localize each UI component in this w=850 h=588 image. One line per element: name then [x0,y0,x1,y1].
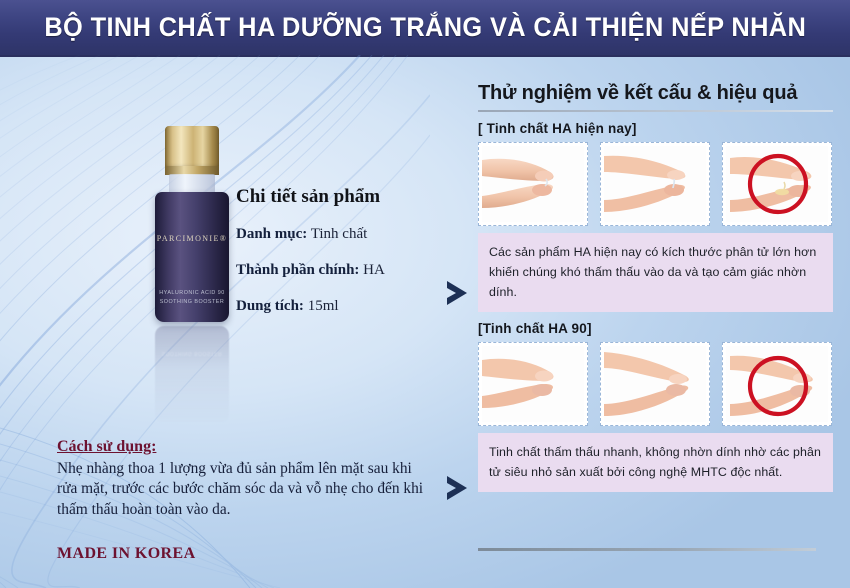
texture-test-panel: Thử nghiệm về kết cấu & hiệu quả [ Tinh … [478,82,833,492]
photo-row-ha90 [478,342,833,426]
bottle: PARCIMONIE® HYALURONIC ACID 90 SOOTHING … [146,126,238,322]
bottle-type-label: SOOTHING BOOSTER [155,299,229,305]
fingertips-illustration [604,146,706,222]
bottle-reflection: SOOTHING BOOSTER [155,326,229,422]
product-details-heading: Chi tiết sản phẩm [236,186,451,208]
detail-value-category: Tinh chất [311,226,368,242]
fingertips-illustration [482,346,584,422]
description-current-ha: Các sản phẩm HA hiện nay có kích thước p… [478,233,833,312]
usage-heading: Cách sử dụng: [57,438,432,456]
detail-label-ingredient: Thành phần chính: [236,262,359,278]
description-ha90: Tinh chất thấm thấu nhanh, không nhờn dí… [478,433,833,492]
detail-label-category: Danh mục: [236,226,307,242]
detail-value-volume: 15ml [308,298,339,314]
fingertips-illustration [482,146,584,222]
bottle-cap [165,126,219,170]
detail-row-ingredient: Thành phần chính: HA [236,261,451,279]
photo-fingertips-stretch-1 [600,142,710,226]
title-divider [478,110,833,112]
section-label-current-ha: [ Tinh chất HA hiện nay] [478,121,833,136]
product-bottle-image: PARCIMONIE® HYALURONIC ACID 90 SOOTHING … [146,126,238,426]
page-title: BỘ TINH CHẤT HA DƯỠNG TRẮNG VÀ CẢI THIỆN… [44,12,806,43]
fingertips-illustration-highlighted [726,146,828,222]
bottle-ingredient-label: HYALURONIC ACID 90 [155,290,229,296]
detail-value-ingredient: HA [363,262,385,278]
bottle-brand-label: PARCIMONIE® [155,234,229,243]
fingertips-illustration [604,346,706,422]
fingertips-illustration-highlighted [726,346,828,422]
chevron-right-icon [441,278,475,308]
chevron-right-icon [441,473,475,503]
detail-row-category: Danh mục: Tinh chất [236,225,451,243]
photo-fingertips-separate-2 [600,342,710,426]
photo-row-current-ha [478,142,833,226]
test-panel-title: Thử nghiệm về kết cấu & hiệu quả [478,82,833,105]
bottle-reflection-text: SOOTHING BOOSTER [155,350,229,356]
header-banner: BỘ TINH CHẤT HA DƯỠNG TRẮNG VÀ CẢI THIỆN… [0,0,850,57]
detail-row-volume: Dung tích: 15ml [236,297,451,315]
detail-label-volume: Dung tích: [236,298,304,314]
photo-fingertips-pinch-1 [478,142,588,226]
photo-fingertips-pinch-2 [478,342,588,426]
section-label-ha90: [Tinh chất HA 90] [478,321,833,336]
infographic-canvas: BỘ TINH CHẤT HA DƯỠNG TRẮNG VÀ CẢI THIỆN… [0,0,850,588]
bottom-divider [478,548,816,551]
product-details-section: Chi tiết sản phẩm Danh mục: Tinh chất Th… [236,186,451,333]
photo-fingertips-residue-circled [722,142,832,226]
made-in-label: MADE IN KOREA [57,545,196,563]
usage-text: Nhẹ nhàng thoa 1 lượng vừa đủ sản phẩm l… [57,459,432,520]
photo-fingertips-clean-circled [722,342,832,426]
usage-instructions-section: Cách sử dụng: Nhẹ nhàng thoa 1 lượng vừa… [57,438,432,520]
bottle-body: PARCIMONIE® HYALURONIC ACID 90 SOOTHING … [155,192,229,322]
